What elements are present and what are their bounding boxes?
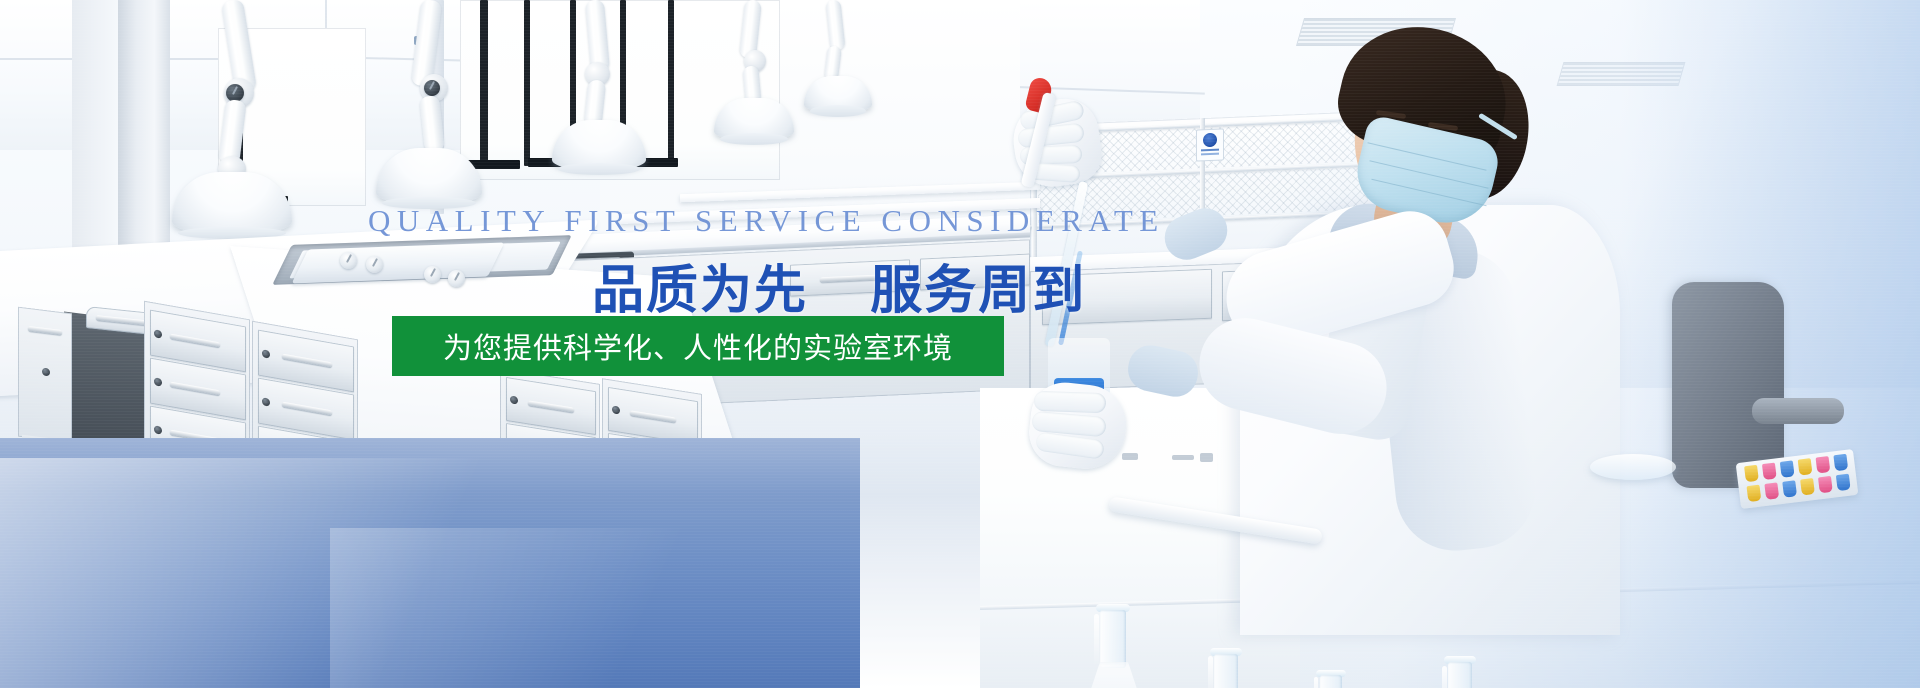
- cabinet-lock: [42, 368, 50, 377]
- rack-tube: [1744, 465, 1759, 482]
- rack-tube: [1747, 485, 1762, 502]
- rack-tube: [1762, 463, 1777, 480]
- small-tool: [1200, 453, 1213, 462]
- rack-tube: [1818, 476, 1833, 493]
- rack-tube: [1780, 460, 1795, 477]
- rack-tube: [1764, 482, 1779, 499]
- bench-knob: [340, 252, 357, 269]
- wall-pillar-outer: [72, 0, 120, 250]
- rack-tube: [1833, 454, 1848, 471]
- flask-highlight: [1442, 666, 1447, 688]
- flask-neck: [1320, 675, 1342, 688]
- flask-highlight: [1314, 677, 1318, 688]
- banner-subtitle-bar[interactable]: 为您提供科学化、人性化的实验室环境: [392, 316, 1004, 376]
- floor-reflection: [330, 528, 850, 688]
- office-chair-armrest: [1752, 398, 1844, 424]
- window-mullion: [668, 0, 674, 160]
- cabinet-lock: [510, 395, 518, 404]
- wall-pillar: [118, 0, 170, 268]
- window-mullion: [480, 0, 488, 168]
- mid-drawer: [920, 254, 1030, 291]
- rack-tube: [1800, 478, 1815, 495]
- small-tool: [1122, 453, 1138, 460]
- bench-knob: [448, 270, 465, 287]
- flask-highlight: [1094, 614, 1099, 666]
- window-mullion: [524, 0, 530, 166]
- rack-tube: [1816, 456, 1831, 473]
- flask-highlight: [1208, 656, 1213, 688]
- flask-neck: [1214, 654, 1238, 688]
- flask-neck: [1100, 610, 1126, 668]
- banner-subtitle-text: 为您提供科学化、人性化的实验室环境: [443, 325, 953, 367]
- glove-finger: [1034, 391, 1107, 414]
- bench-knob: [424, 266, 441, 283]
- small-tool: [1172, 455, 1194, 460]
- rack-tube: [1782, 480, 1797, 497]
- rack-tube: [1836, 474, 1851, 491]
- flask-neck: [1448, 662, 1472, 688]
- cabinet-lock: [612, 405, 620, 414]
- hero-banner: QUALITY FIRST SERVICE CONSIDERATE 品质为先 服…: [0, 0, 1920, 688]
- petri-dish: [1590, 454, 1676, 480]
- bench-knob: [366, 256, 383, 273]
- rack-tube: [1798, 458, 1813, 475]
